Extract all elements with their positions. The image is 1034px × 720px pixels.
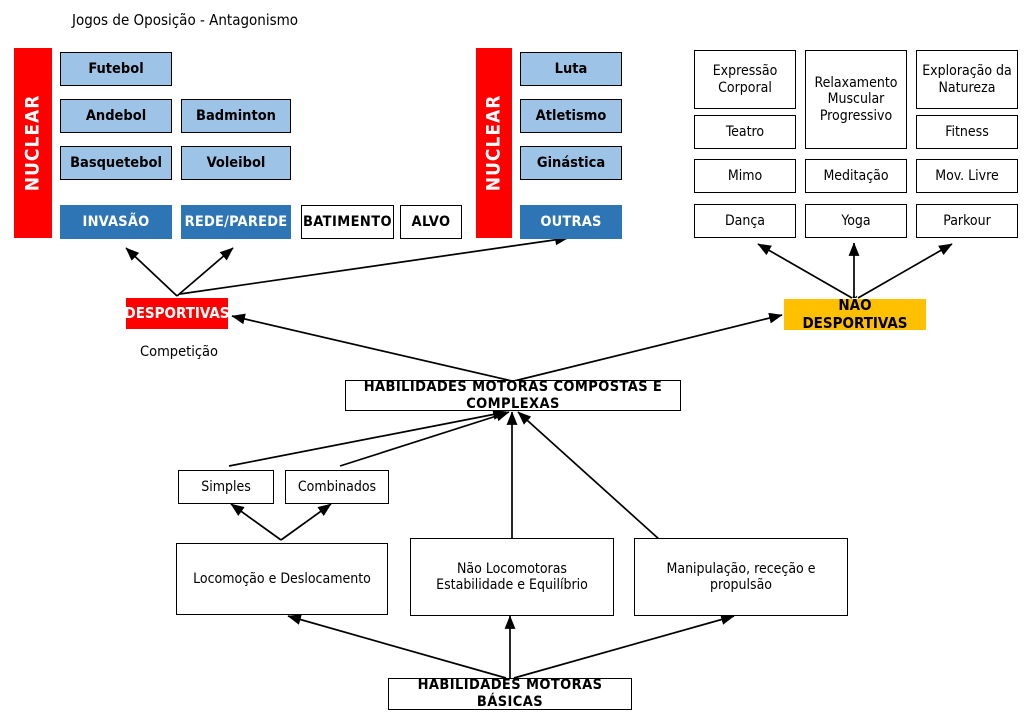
competition-caption: Competição	[140, 344, 218, 360]
modality-label: Luta	[555, 61, 588, 78]
modality-futebol[interactable]: Futebol	[60, 52, 172, 86]
modality-label: Ginástica	[537, 155, 605, 172]
basic-group-locomocao[interactable]: Locomoção e Deslocamento	[176, 543, 388, 615]
nonsport-expressao-corporal[interactable]: Expressão Corporal	[694, 50, 796, 109]
modality-label: Basquetebol	[70, 155, 162, 172]
page-title: Jogos de Oposição - Antagonismo	[72, 11, 298, 29]
category-invasao[interactable]: INVASÃO	[60, 205, 172, 239]
basic-skills-label: HABILIDADES MOTORAS BÁSICAS	[389, 677, 631, 710]
edge-desportivas-redeparede	[177, 248, 233, 296]
basic-skills-box[interactable]: HABILIDADES MOTORAS BÁSICAS	[388, 678, 632, 710]
basic-group-label: Não Locomotoras Estabilidade e Equilíbri…	[419, 561, 605, 593]
hub-desportivas[interactable]: DESPORTIVAS	[126, 298, 228, 329]
edge-desportivas-outras	[180, 238, 568, 294]
nonsport-label: Fitness	[945, 124, 989, 140]
category-batimento[interactable]: BATIMENTO	[301, 205, 394, 239]
modality-label: Futebol	[88, 61, 143, 78]
composite-skills-box[interactable]: HABILIDADES MOTORAS COMPOSTAS E COMPLEXA…	[345, 380, 681, 411]
edge-naodesportivas-danca	[758, 244, 852, 298]
hub-desportivas-label: DESPORTIVAS	[124, 305, 229, 322]
edge-manipulacao-compostas	[518, 412, 660, 540]
nonsport-label: Meditação	[823, 168, 888, 184]
modality-label: Voleibol	[207, 155, 266, 172]
nuclear-bar-left: NUCLEAR	[14, 48, 52, 238]
skill-qualifier-label: Simples	[201, 479, 251, 495]
modality-badminton[interactable]: Badminton	[181, 99, 291, 133]
nonsport-danca[interactable]: Dança	[694, 204, 796, 238]
edge-locomocao-combinados	[281, 504, 331, 540]
category-label: REDE/PAREDE	[185, 214, 288, 231]
nonsport-label: Expressão Corporal	[695, 63, 795, 95]
nonsport-meditacao[interactable]: Meditação	[805, 159, 907, 193]
skill-qualifier-label: Combinados	[298, 479, 376, 495]
modality-luta[interactable]: Luta	[520, 52, 622, 86]
nonsport-mimo[interactable]: Mimo	[694, 159, 796, 193]
category-label: ALVO	[412, 214, 451, 231]
diagram-canvas: Jogos de Oposição - Antagonismo NUCLEAR …	[0, 0, 1034, 720]
basic-group-label: Locomoção e Deslocamento	[193, 571, 371, 587]
nuclear-bar-right: NUCLEAR	[476, 48, 512, 238]
category-label: INVASÃO	[83, 214, 150, 231]
composite-skills-label: HABILIDADES MOTORAS COMPOSTAS E COMPLEXA…	[346, 379, 680, 412]
nonsport-label: Dança	[725, 213, 765, 229]
edge-simples-compostas	[229, 412, 506, 466]
nonsport-label: Mov. Livre	[935, 168, 999, 184]
nonsport-label: Yoga	[841, 213, 870, 229]
nonsport-mov-livre[interactable]: Mov. Livre	[916, 159, 1018, 193]
nonsport-label: Mimo	[728, 168, 762, 184]
edge-combinados-compostas	[340, 412, 509, 466]
basic-group-manipulacao[interactable]: Manipulação, receção e propulsão	[634, 538, 848, 616]
nuclear-bar-right-label: NUCLEAR	[483, 95, 505, 192]
nonsport-exploracao-da-natureza[interactable]: Exploração da Natureza	[916, 50, 1018, 109]
edge-compostas-naodesportivas	[514, 315, 782, 381]
nonsport-yoga[interactable]: Yoga	[805, 204, 907, 238]
edge-basicas-manipulacao	[514, 616, 734, 678]
category-label: OUTRAS	[540, 214, 601, 231]
edge-basicas-locomocao	[288, 616, 506, 678]
edge-naodesportivas-parkour	[858, 244, 952, 298]
edge-locomocao-simples	[231, 504, 281, 540]
modality-label: Andebol	[86, 108, 146, 125]
skill-qualifier-combinados[interactable]: Combinados	[285, 470, 389, 504]
nonsport-label: Exploração da Natureza	[917, 63, 1017, 95]
edge-desportivas-invasao	[126, 248, 177, 296]
nonsport-label: Teatro	[726, 124, 764, 140]
modality-basquetebol[interactable]: Basquetebol	[60, 146, 172, 180]
nonsport-fitness[interactable]: Fitness	[916, 115, 1018, 149]
basic-group-nao-locomotoras[interactable]: Não Locomotoras Estabilidade e Equilíbri…	[410, 538, 614, 616]
nonsport-label: Parkour	[943, 213, 991, 229]
modality-atletismo[interactable]: Atletismo	[520, 99, 622, 133]
hub-nao-desportivas-label: NÃO DESPORTIVAS	[784, 297, 926, 332]
modality-label: Badminton	[196, 108, 276, 125]
basic-group-label: Manipulação, receção e propulsão	[645, 561, 837, 593]
category-label: BATIMENTO	[303, 214, 392, 231]
nonsport-label: Relaxamento Muscular Progressivo	[806, 75, 906, 123]
nonsport-teatro[interactable]: Teatro	[694, 115, 796, 149]
modality-andebol[interactable]: Andebol	[60, 99, 172, 133]
edge-compostas-desportivas	[232, 316, 512, 381]
nonsport-parkour[interactable]: Parkour	[916, 204, 1018, 238]
skill-qualifier-simples[interactable]: Simples	[178, 470, 274, 504]
hub-nao-desportivas[interactable]: NÃO DESPORTIVAS	[784, 299, 926, 330]
category-outras[interactable]: OUTRAS	[520, 205, 622, 239]
modality-label: Atletismo	[536, 108, 607, 125]
nonsport-relaxamento-muscular-progressivo[interactable]: Relaxamento Muscular Progressivo	[805, 50, 907, 149]
category-rede-parede[interactable]: REDE/PAREDE	[181, 205, 291, 239]
nuclear-bar-left-label: NUCLEAR	[22, 95, 44, 192]
modality-voleibol[interactable]: Voleibol	[181, 146, 291, 180]
modality-ginastica[interactable]: Ginástica	[520, 146, 622, 180]
category-alvo[interactable]: ALVO	[400, 205, 462, 239]
